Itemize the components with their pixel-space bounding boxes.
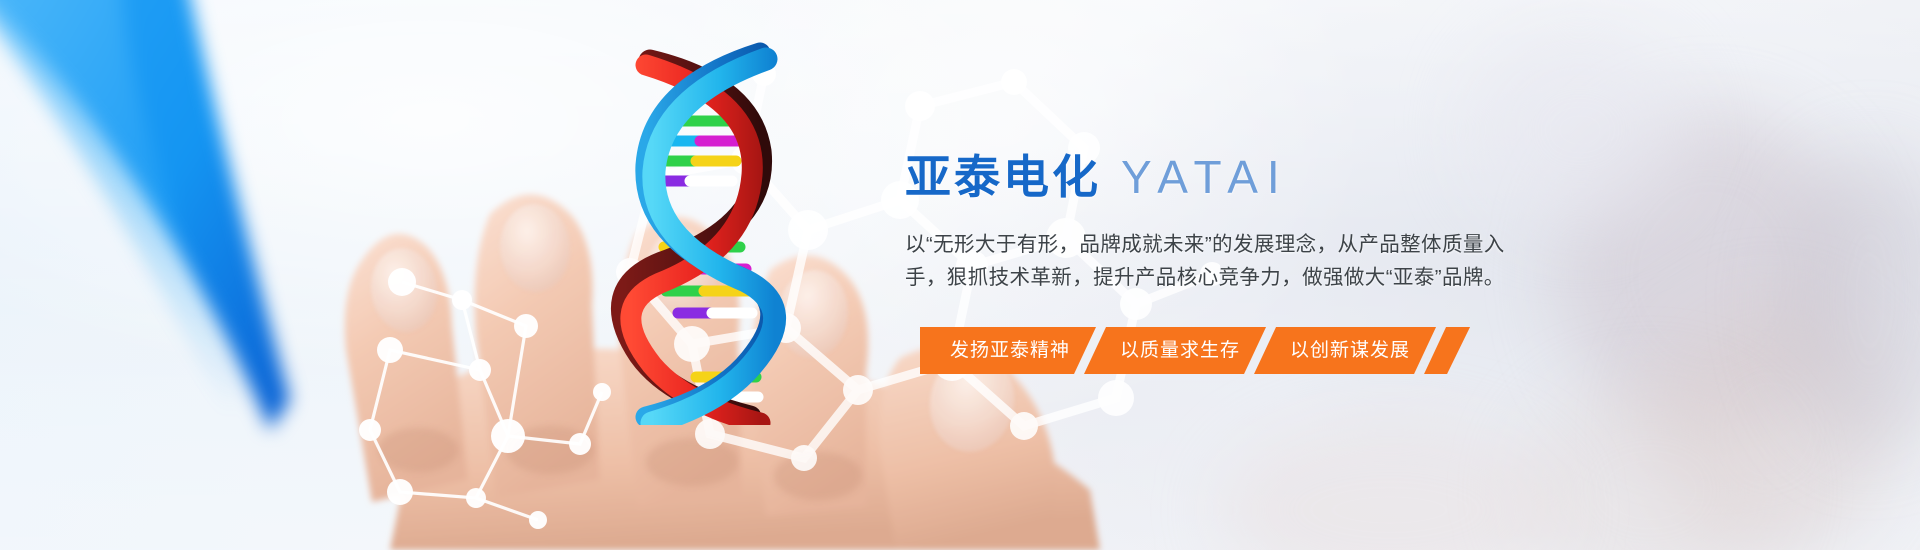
page-title: 亚泰电化YATAI [905,148,1545,206]
title-chinese: 亚泰电化 [905,151,1101,203]
description-text: 以“无形大于有形，品牌成就未来”的发展理念，从产品整体质量入 手，狠抓技术革新，… [905,228,1509,294]
slogan-tag-3[interactable]: 以创新谋发展 [1254,327,1436,374]
dna-double-helix-icon [600,25,820,425]
slogan-tag-1[interactable]: 发扬亚泰精神 [920,327,1096,374]
description-line-2: 手，狠抓技术革新，提升产品核心竞争力，做强做大“亚泰”品牌。 [905,261,1509,294]
copy-block: 亚泰电化YATAI 以“无形大于有形，品牌成就未来”的发展理念，从产品整体质量入… [905,148,1545,294]
slogan-tag-bar: 发扬亚泰精神 以质量求生存 以创新谋发展 [920,327,1470,374]
hero-banner: 亚泰电化YATAI 以“无形大于有形，品牌成就未来”的发展理念，从产品整体质量入… [0,0,1920,550]
slogan-tag-2[interactable]: 以质量求生存 [1084,327,1266,374]
title-english: YATAI [1121,151,1289,203]
description-line-1: 以“无形大于有形，品牌成就未来”的发展理念，从产品整体质量入 [905,228,1509,261]
